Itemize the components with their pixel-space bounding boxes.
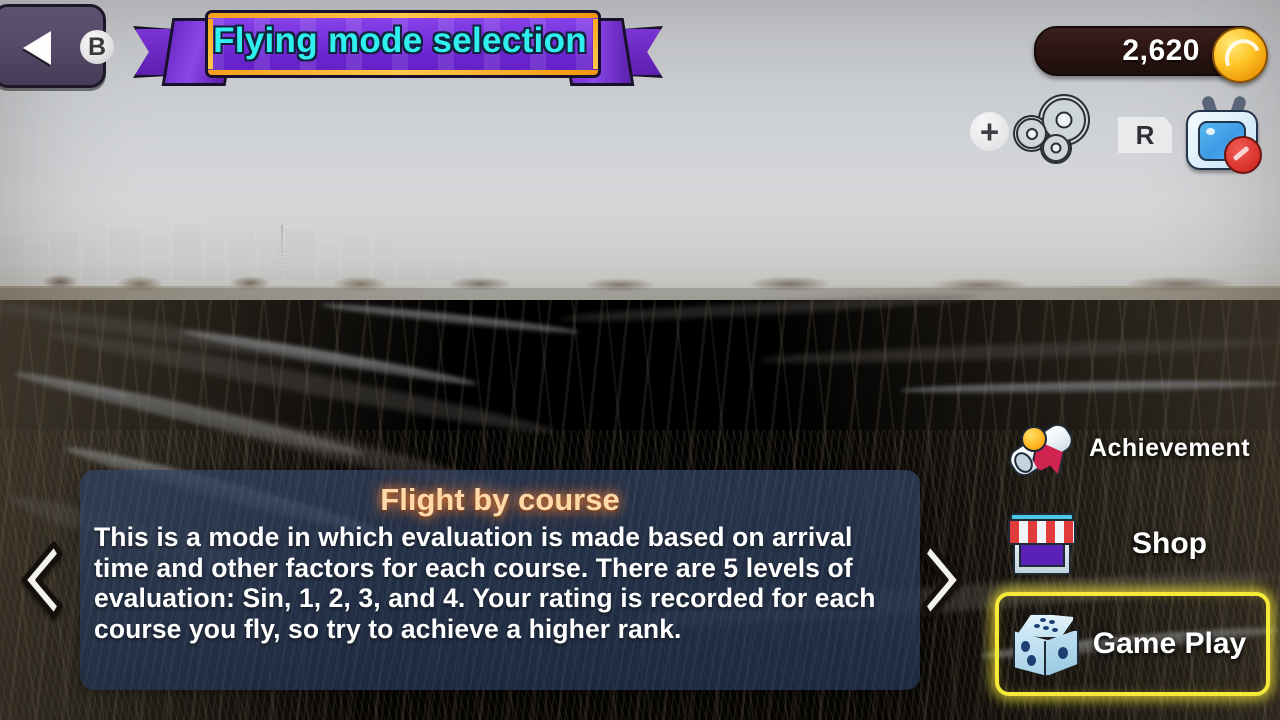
title-ribbon: Flying mode selection <box>133 4 663 84</box>
mode-title: Flight by course <box>80 482 920 518</box>
menu-item-achievement[interactable]: Achievement <box>995 400 1270 496</box>
game-screen: B Flying mode selection 2,620 + R <box>0 0 1280 720</box>
back-arrow-icon <box>23 31 51 65</box>
settings-button[interactable] <box>1016 98 1102 164</box>
scroll-award-icon <box>1003 411 1077 485</box>
mode-description: This is a mode in which evaluation is ma… <box>94 522 906 645</box>
gear-icon-tiny <box>1042 134 1070 162</box>
no-ads-button[interactable] <box>1184 98 1258 170</box>
coin-amount: 2,620 <box>1122 28 1200 74</box>
menu-item-label: Shop <box>1077 527 1262 561</box>
mode-description-panel: Flight by course This is a mode in which… <box>80 470 920 690</box>
chevron-right-icon <box>920 538 966 622</box>
add-button[interactable]: + <box>970 112 1009 151</box>
currency-bar[interactable]: 2,620 <box>1034 26 1264 76</box>
page-title: Flying mode selection <box>205 10 595 72</box>
chevron-left-icon <box>18 538 64 622</box>
dice-icon <box>1007 607 1081 681</box>
coin-icon <box>1212 27 1268 83</box>
shop-icon <box>1003 507 1077 581</box>
r-key-hint: R <box>1118 117 1172 153</box>
menu-item-label: Game Play <box>1081 627 1258 661</box>
prohibition-icon <box>1224 136 1262 174</box>
menu-item-game-play[interactable]: Game Play <box>995 592 1270 696</box>
previous-mode-button[interactable] <box>18 538 64 622</box>
button-hint-b: B <box>80 30 114 64</box>
menu-item-label: Achievement <box>1077 434 1262 463</box>
next-mode-button[interactable] <box>920 538 966 622</box>
main-menu: Achievement Shop <box>995 400 1270 696</box>
menu-item-shop[interactable]: Shop <box>995 496 1270 592</box>
